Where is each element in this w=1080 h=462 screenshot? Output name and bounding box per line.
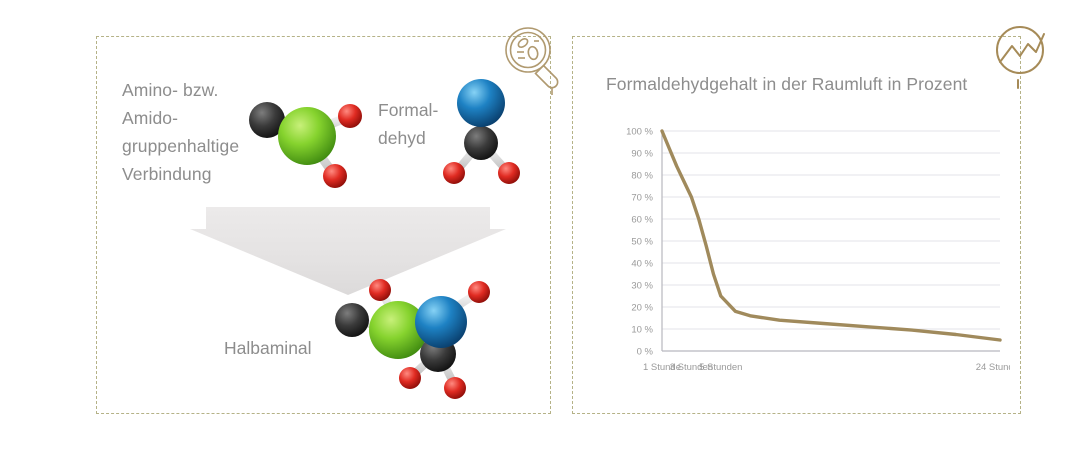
y-axis-tick-label: 80 %	[631, 170, 653, 181]
label-formaldehyde: Formal-dehyd	[378, 96, 488, 152]
x-axis-tick-label: 24 Stunden	[976, 362, 1010, 373]
y-axis-tick-label: 40 %	[631, 258, 653, 269]
label-hemiaminal: Halbaminal	[224, 338, 312, 359]
y-axis-tick-label: 50 %	[631, 236, 653, 247]
x-axis-tick-label: 5 Stunden	[699, 362, 742, 373]
line-chart: 100 %90 %80 %70 %60 %50 %40 %30 %20 %10 …	[600, 120, 1010, 388]
y-axis-tick-label: 20 %	[631, 302, 653, 313]
y-axis-tick-label: 10 %	[631, 324, 653, 335]
y-axis-tick-label: 70 %	[631, 192, 653, 203]
x-axis-labels: 1 Stunde3 Stunden5 Stunden24 Stunden	[643, 362, 1010, 373]
chart-title: Formaldehydgehalt in der Raumluft in Pro…	[606, 74, 967, 95]
series-line	[662, 131, 1000, 340]
y-axis-tick-label: 0 %	[637, 346, 654, 357]
y-axis-tick-label: 60 %	[631, 214, 653, 225]
label-amine-compound: Amino- bzw.Amido-gruppenhaltigeVerbindun…	[122, 76, 302, 188]
y-axis-tick-label: 90 %	[631, 148, 653, 159]
grid-lines	[662, 131, 1000, 329]
trend-chart-icon	[988, 18, 1062, 92]
magnifier-molecule-icon	[498, 22, 572, 96]
page-root: Amino- bzw.Amido-gruppenhaltigeVerbindun…	[0, 0, 1080, 462]
y-axis-tick-label: 30 %	[631, 280, 653, 291]
y-axis-labels: 100 %90 %80 %70 %60 %50 %40 %30 %20 %10 …	[626, 126, 653, 357]
hemiaminal-molecule	[324, 272, 514, 402]
y-axis-tick-label: 100 %	[626, 126, 653, 137]
